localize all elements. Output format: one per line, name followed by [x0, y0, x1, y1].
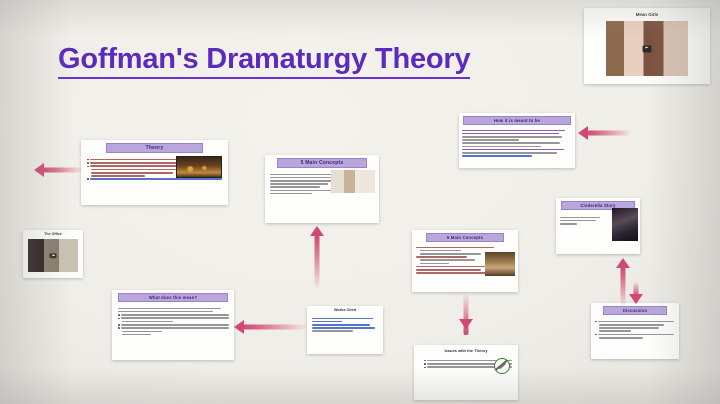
five-main-concepts-right-header: 5 Main Concepts: [426, 233, 504, 242]
cinderella-film-still: [612, 208, 638, 241]
arrow-head: [234, 320, 244, 334]
text-line: [270, 193, 312, 195]
card-theory[interactable]: Theory: [81, 140, 228, 205]
arrow-to-how-it-is-meant-to-be: [578, 126, 630, 140]
issues-with-the-theory-header: Issues with the Theory: [414, 345, 518, 356]
bullet-item: [118, 324, 229, 326]
bullet-dot: [87, 178, 89, 180]
card-discussion[interactable]: Discussion: [591, 303, 679, 359]
text-line: [420, 263, 449, 265]
bullet-dot: [424, 360, 426, 362]
bullet-dot: [424, 367, 426, 369]
what-does-this-mean-header: What does this mean?: [118, 293, 228, 302]
text-line: [462, 130, 565, 132]
how-it-is-meant-to-be-header: How it is meant to be: [463, 116, 571, 125]
bullet-dot: [87, 162, 89, 164]
arrow-shaft: [587, 131, 630, 136]
text-line: [416, 247, 494, 249]
text-line: [416, 269, 481, 271]
play-icon[interactable]: [643, 45, 652, 52]
text-line: [560, 223, 577, 225]
card-five-main-concepts-right[interactable]: 5 Main Concepts: [412, 230, 518, 292]
text-line: [462, 142, 560, 144]
mean-girls-caption: Mean Girls: [584, 8, 710, 19]
arrow-to-five-main-concepts-left: [310, 226, 324, 288]
text-line: [416, 272, 489, 274]
citation-link[interactable]: [312, 321, 342, 323]
text-line: [560, 217, 600, 219]
bullet-dot: [595, 334, 597, 336]
text-line: [598, 334, 674, 336]
bullet-item: [595, 334, 674, 336]
arrow-head: [459, 319, 473, 329]
bullet-item: [118, 314, 229, 316]
text-line: [462, 152, 557, 154]
arrow-shaft: [243, 325, 306, 330]
bullet-item: [118, 327, 229, 329]
discussion-body: [591, 315, 679, 339]
text-line: [462, 136, 562, 138]
text-line: [91, 172, 173, 174]
works-cited-body: [307, 315, 383, 332]
text-line: [599, 330, 631, 332]
five-main-concepts-left-header: 5 Main Concepts: [277, 158, 367, 168]
bullet-dot: [595, 321, 597, 323]
card-issues-with-the-theory[interactable]: Issues with the Theory: [414, 345, 518, 400]
text-line: [420, 259, 475, 261]
text-line: [462, 139, 519, 141]
text-line: [121, 317, 229, 319]
the-office-caption: The Office: [23, 230, 83, 238]
text-line: [122, 334, 151, 336]
text-line: [121, 324, 229, 326]
text-line: [270, 183, 328, 185]
arrow-to-what-does-this-mean: [234, 320, 306, 334]
arrow-head: [616, 258, 630, 268]
text-line: [599, 327, 659, 329]
discussion-header: Discussion: [603, 306, 667, 315]
text-line: [462, 133, 559, 135]
how-it-is-meant-to-be-body: [459, 125, 575, 157]
arrow-to-cinderella-story: [616, 258, 630, 306]
what-does-this-mean-body: [112, 302, 234, 335]
card-five-main-concepts-left[interactable]: 5 Main Concepts: [265, 155, 379, 223]
text-line: [118, 308, 221, 310]
text-line: [416, 256, 467, 258]
text-line: [122, 321, 173, 323]
text-line: [122, 331, 162, 333]
arrow-to-theory: [34, 163, 82, 177]
bullet-dot: [118, 314, 120, 316]
bullet-item: [87, 178, 222, 180]
citation-link[interactable]: [312, 324, 370, 326]
people-conversation-photo: [331, 170, 375, 193]
prezi-canvas[interactable]: Goffman's Dramaturgy Theory Mean Girls H…: [0, 0, 720, 404]
bullet-dot: [87, 159, 89, 161]
text-line: [270, 186, 320, 188]
text-line: [312, 330, 353, 332]
bullet-dot: [118, 318, 120, 320]
text-line: [420, 253, 481, 255]
arrow-shaft: [621, 267, 626, 306]
page-title: Goffman's Dramaturgy Theory: [58, 43, 470, 79]
bullet-dot: [424, 363, 426, 365]
citation-link[interactable]: [312, 327, 375, 329]
bullet-dot: [118, 324, 120, 326]
text-line: [91, 175, 145, 177]
five-main-concepts-left-body: [265, 168, 379, 194]
works-cited-header: Works Cited: [307, 306, 383, 315]
card-what-does-this-mean[interactable]: What does this mean?: [112, 290, 234, 360]
card-cinderella-story[interactable]: Cinderella Story: [556, 198, 640, 254]
arrow-shaft: [315, 235, 320, 288]
bullet-item: [595, 321, 674, 323]
wikipedia-link[interactable]: [90, 178, 222, 180]
arrow-shaft: [43, 168, 82, 173]
text-line: [560, 220, 596, 222]
text-line: [598, 321, 674, 323]
play-icon[interactable]: [50, 253, 57, 259]
cinderella-story-body: [556, 210, 640, 225]
arrow-head: [629, 294, 643, 304]
issues-with-the-theory-body: [414, 356, 518, 368]
no-entry-sign-icon: [494, 358, 510, 374]
text-line: [599, 337, 643, 339]
arrow-head: [34, 163, 44, 177]
theatre-stage-photo: [176, 156, 222, 178]
card-the-office[interactable]: The Office: [23, 230, 83, 278]
mean-girls-video-thumbnail[interactable]: [606, 21, 688, 76]
theory-header: Theory: [106, 143, 203, 153]
card-works-cited[interactable]: Works Cited: [307, 306, 383, 354]
arrow-head: [578, 126, 588, 140]
bullet-dot: [87, 166, 89, 168]
text-line: [118, 311, 213, 313]
dinner-scene-photo: [485, 252, 515, 276]
theory-body: [81, 153, 228, 180]
text-line: [420, 250, 461, 252]
text-line: [599, 324, 664, 326]
text-line: [416, 266, 485, 268]
text-line: [121, 327, 229, 329]
bullet-item: [118, 317, 229, 319]
text-line[interactable]: [462, 155, 532, 157]
five-main-concepts-right-body: [412, 242, 518, 274]
bullet-dot: [118, 327, 120, 329]
card-how-it-is-meant-to-be[interactable]: How it is meant to be: [459, 113, 575, 168]
text-line: [462, 149, 564, 151]
the-office-video-thumbnail[interactable]: [28, 239, 78, 272]
arrow-to-issues-with-the-theory: [459, 294, 473, 344]
text-line: [462, 146, 541, 148]
card-mean-girls[interactable]: Mean Girls: [584, 8, 710, 84]
citation-link[interactable]: [312, 318, 373, 320]
arrow-to-discussion: [629, 282, 643, 306]
text-line: [121, 314, 229, 316]
arrow-head: [310, 226, 324, 236]
